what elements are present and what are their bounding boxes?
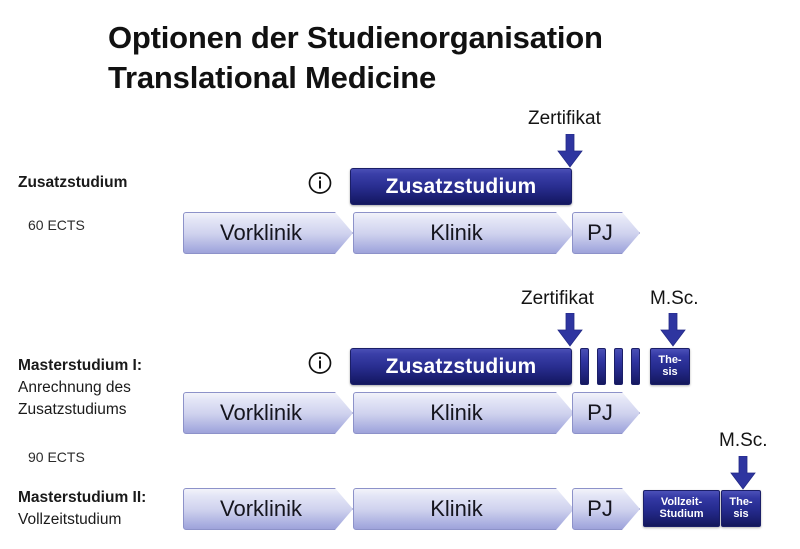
zertifikat-caption-row1: Zertifikat	[528, 108, 601, 130]
row-title-masterstudium-1: Masterstudium I:	[18, 355, 142, 377]
vollzeit-studium-box-row3[interactable]: Vollzeit- Studium	[643, 490, 720, 527]
stage-klinik-row1[interactable]: Klinik	[353, 212, 574, 254]
arrow-down-icon-zertifikat-row1	[557, 134, 583, 168]
row-ects-masterstudium-1: 90 ECTS	[28, 449, 85, 465]
stage-pj-label-row3: PJ	[587, 496, 625, 522]
page-title-line-1: Optionen der Studienorganisation	[108, 18, 768, 58]
stage-pj-row2[interactable]: PJ	[572, 392, 640, 434]
thesis-box-row2[interactable]: The- sis	[650, 348, 690, 385]
thesis-box-label-line-2-row3: sis	[733, 509, 748, 521]
row-subtitle-masterstudium-1-line-1: Anrechnung des	[18, 377, 142, 399]
row-subtitle-masterstudium-2-line-1: Vollzeitstudium	[18, 509, 146, 531]
thesis-box-row3[interactable]: The- sis	[721, 490, 761, 527]
stage-klinik-label-row2: Klinik	[430, 400, 497, 426]
stage-pj-row1[interactable]: PJ	[572, 212, 640, 254]
arrow-down-icon-msc-row2	[660, 313, 686, 347]
stage-pj-label-row2: PJ	[587, 400, 625, 426]
stage-vorklinik-row1[interactable]: Vorklinik	[183, 212, 353, 254]
zusatzstudium-bar-label-row2: Zusatzstudium	[386, 355, 537, 379]
msc-caption-row2: M.Sc.	[650, 288, 699, 310]
zusatzstudium-bar-row1[interactable]: Zusatzstudium	[350, 168, 572, 205]
row-label-masterstudium-2: Masterstudium II: Vollzeitstudium	[18, 487, 146, 531]
tick-bar-4-row2	[631, 348, 640, 385]
row-title-zusatzstudium: Zusatzstudium	[18, 172, 127, 194]
thesis-box-label-line-1-row2: The-	[658, 355, 681, 367]
tick-bar-1-row2	[580, 348, 589, 385]
stage-klinik-row3[interactable]: Klinik	[353, 488, 574, 530]
zusatzstudium-bar-row2[interactable]: Zusatzstudium	[350, 348, 572, 385]
vollzeit-studium-label-line-1-row3: Vollzeit-	[661, 497, 702, 509]
arrow-down-icon-zertifikat-row2	[557, 313, 583, 347]
arrow-down-icon-msc-row3	[730, 456, 756, 490]
stage-vorklinik-label-row3: Vorklinik	[220, 496, 316, 522]
zertifikat-caption-row2: Zertifikat	[521, 288, 594, 310]
info-circle-icon-row1[interactable]	[308, 171, 332, 195]
stage-klinik-label-row3: Klinik	[430, 496, 497, 522]
thesis-box-label-line-2-row2: sis	[662, 367, 677, 379]
stage-vorklinik-label-row1: Vorklinik	[220, 220, 316, 246]
stage-vorklinik-row3[interactable]: Vorklinik	[183, 488, 353, 530]
page-title-line-2: Translational Medicine	[108, 58, 768, 98]
stage-vorklinik-label-row2: Vorklinik	[220, 400, 316, 426]
tick-bar-2-row2	[597, 348, 606, 385]
row-ects-zusatzstudium: 60 ECTS	[28, 217, 85, 233]
stage-klinik-label-row1: Klinik	[430, 220, 497, 246]
row-label-zusatzstudium: Zusatzstudium	[18, 172, 127, 194]
info-circle-icon-row2[interactable]	[308, 351, 332, 375]
row-label-masterstudium-1: Masterstudium I: Anrechnung des Zusatzst…	[18, 355, 142, 421]
page-title: Optionen der Studienorganisation Transla…	[108, 18, 768, 97]
stage-vorklinik-row2[interactable]: Vorklinik	[183, 392, 353, 434]
slide-canvas: Optionen der Studienorganisation Transla…	[0, 0, 800, 549]
thesis-box-label-line-1-row3: The-	[729, 497, 752, 509]
vollzeit-studium-label-line-2-row3: Studium	[660, 509, 704, 521]
msc-caption-row3: M.Sc.	[719, 430, 768, 452]
stage-pj-label-row1: PJ	[587, 220, 625, 246]
row-subtitle-masterstudium-1-line-2: Zusatzstudiums	[18, 399, 142, 421]
tick-bar-3-row2	[614, 348, 623, 385]
stage-pj-row3[interactable]: PJ	[572, 488, 640, 530]
stage-klinik-row2[interactable]: Klinik	[353, 392, 574, 434]
row-title-masterstudium-2: Masterstudium II:	[18, 487, 146, 509]
zusatzstudium-bar-label-row1: Zusatzstudium	[386, 175, 537, 199]
